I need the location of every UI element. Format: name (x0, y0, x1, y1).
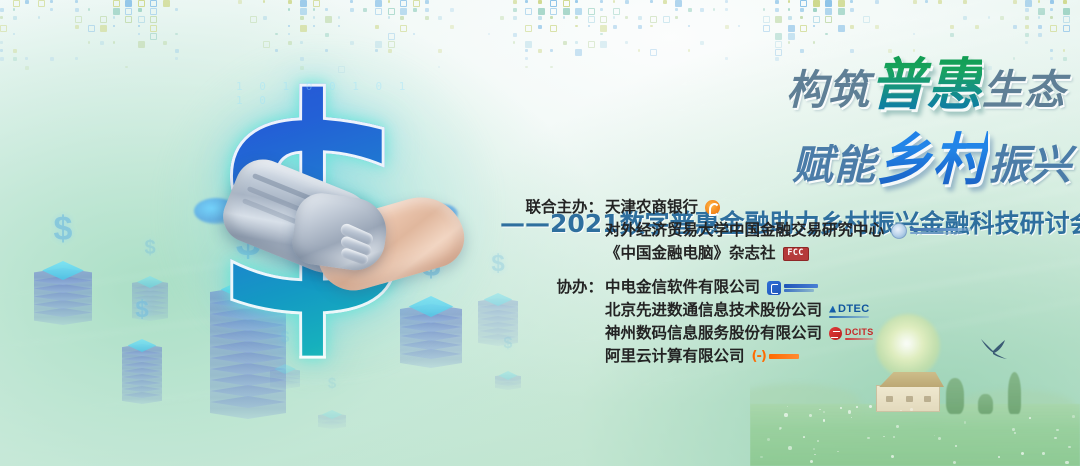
hill-shape (956, 390, 1074, 418)
field-speck (788, 446, 792, 450)
title-line-2: 赋能乡村振兴 (500, 115, 1080, 196)
field-speck (856, 406, 858, 408)
field-speck (998, 456, 1000, 458)
house-body (876, 385, 940, 412)
coin-disc (34, 268, 92, 285)
field-speck (953, 461, 956, 464)
coin-disc (318, 413, 346, 421)
field-speck (809, 414, 812, 417)
host-org-2: 对外经济贸易大学中国金融交易研究中心 (605, 219, 884, 242)
credit-row: 北京先进数通信息技术股份公司 DTEC (605, 299, 985, 322)
coin-disc (34, 284, 92, 301)
partner-org-2: 北京先进数通信息技术股份公司 (605, 299, 822, 322)
gientech-mark-icon (767, 281, 781, 295)
field-speck (891, 455, 894, 458)
field-speck (1042, 452, 1045, 455)
field-speck (814, 454, 816, 456)
coin-disc (34, 276, 92, 293)
field-speck (767, 438, 770, 441)
dollar-handshake-emblem: $ 1 0 1 0 0 1 0 1 1 0 (178, 58, 478, 358)
field-speck (910, 408, 913, 411)
credit-row: 阿里云计算有限公司 (-) (605, 345, 985, 368)
title-seg-shengtai: 生态 (982, 66, 1066, 114)
field-speck (780, 427, 782, 429)
field-speck (840, 407, 842, 409)
credit-row: 神州数码信息服务股份有限公司 DCITS (605, 322, 985, 345)
title-seg-puhui: 普惠 (870, 53, 982, 118)
field-speck (823, 419, 826, 422)
field-speck (787, 406, 788, 407)
title-seg-zhenxing: 振兴 (988, 141, 1072, 189)
credit-rows-coorganizer: 中电金信软件有限公司 北京先进数通信息技术股份公司 DTEC 神州数码信息服务股… (603, 276, 985, 368)
event-banner: $ $ $ $ (0, 0, 1080, 466)
tjrcb-logo (705, 200, 720, 215)
dtec-logo: DTEC (829, 304, 870, 318)
credit-group-coorganizer: 协办： 中电金信软件有限公司 北京先进数通信息技术股份公司 DTEC (525, 276, 985, 368)
field-speck (813, 448, 815, 450)
field-speck (817, 440, 819, 442)
title-seg-xiangcun: 乡村 (876, 128, 988, 193)
coin-disc (318, 421, 346, 429)
field-speck (896, 425, 899, 428)
coin-disc (210, 396, 286, 419)
house-window (886, 396, 893, 402)
coin-disc (34, 292, 92, 309)
dcits-text: DCITS (845, 328, 874, 337)
house-window (924, 396, 931, 402)
partner-org-4: 阿里云计算有限公司 (605, 345, 745, 368)
coin-disc (122, 386, 162, 398)
handshake-graphic (198, 170, 468, 288)
credit-rows-host: 天津农商银行 对外经济贸易大学中国金融交易研究中心 《中国金融电脑》杂志社 FC… (603, 196, 985, 265)
coin-disc (318, 417, 346, 425)
field-speck (848, 410, 851, 413)
dcits-logo: DCITS (829, 327, 874, 340)
credit-row: 《中国金融电脑》杂志社 FCC (605, 242, 985, 265)
partner-org-3: 神州数码信息服务股份有限公司 (605, 322, 822, 345)
coin-top-gem (499, 371, 518, 380)
coin-top-gem (42, 261, 84, 280)
aliyun-logo: (-) (752, 350, 799, 363)
uibe-wordmark (910, 228, 972, 234)
field-speck (1065, 461, 1068, 464)
field-speck (1012, 428, 1015, 431)
credit-label-host: 联合主办： (525, 196, 603, 219)
dollar-symbol-icon: $ (135, 298, 148, 322)
dollar-symbol-icon: $ (144, 238, 155, 258)
gientech-wordmark (784, 284, 818, 292)
field-speck (869, 405, 872, 408)
coin-disc (34, 300, 92, 317)
title-seg-funeng: 赋能 (792, 141, 876, 189)
dollar-symbol-icon: $ (54, 212, 73, 246)
field-speck (837, 451, 839, 453)
field-speck (938, 437, 941, 440)
coin-stack (34, 268, 92, 325)
hill-shape (750, 384, 860, 418)
farmhouse-icon (872, 376, 944, 412)
title-line-1: 构筑普惠生态 (500, 40, 1080, 121)
coin-stack (318, 413, 346, 429)
field-speck (893, 436, 895, 438)
field-speck (1056, 429, 1059, 432)
credit-row: 对外经济贸易大学中国金融交易研究中心 (605, 219, 985, 242)
clasped-hands (289, 190, 390, 274)
coin-disc (495, 382, 521, 390)
uibe-logo (891, 223, 972, 239)
field-speck (851, 417, 852, 418)
house-window (906, 396, 913, 402)
title-seg-gouzhu: 构筑 (786, 66, 870, 114)
host-org-3: 《中国金融电脑》杂志社 (605, 242, 776, 265)
field-speck (900, 410, 901, 411)
partner-org-1: 中电金信软件有限公司 (605, 276, 760, 299)
dcits-mark-icon (829, 327, 842, 340)
field-speck (883, 436, 885, 438)
dcits-wordmark: DCITS (845, 328, 874, 340)
host-org-1: 天津农商银行 (605, 196, 698, 219)
coin-tower: $ (34, 212, 92, 325)
tree-shape (978, 394, 993, 414)
tree-shape (946, 378, 964, 414)
field-speck (823, 411, 825, 413)
dollar-symbol-icon: $ (504, 336, 513, 352)
field-speck (803, 436, 805, 438)
field-speck (1068, 446, 1071, 449)
aliyun-bracket-icon: (-) (752, 350, 766, 363)
credit-group-host: 联合主办： 天津农商银行 对外经济贸易大学中国金融交易研究中心 《中国金融电脑》… (525, 196, 985, 265)
aliyun-wordmark (769, 354, 799, 359)
credit-label-coorganizer: 协办： (525, 276, 603, 299)
field-speck (1072, 415, 1075, 418)
coin-top-gem (128, 339, 157, 352)
credit-row: 天津农商银行 (605, 196, 985, 219)
field-speck (955, 445, 957, 447)
field-speck (1029, 417, 1031, 419)
field-speck (760, 456, 762, 458)
field-speck (819, 409, 821, 411)
field-speck (867, 437, 870, 440)
dtec-wordmark: DTEC (829, 304, 870, 315)
field-speck (964, 421, 966, 423)
credit-row: 中电金信软件有限公司 (605, 276, 985, 299)
tree-shape (1008, 372, 1021, 414)
field-speck (934, 435, 936, 437)
field-speck (1014, 432, 1015, 433)
coin-disc (210, 385, 286, 408)
gientech-logo (767, 281, 818, 295)
field-speck (810, 460, 813, 463)
uibe-seal-icon (891, 223, 907, 239)
house-roof (872, 372, 944, 387)
coin-top-gem (322, 410, 342, 419)
coin-disc (122, 392, 162, 404)
credits-block: 联合主办： 天津农商银行 对外经济贸易大学中国金融交易研究中心 《中国金融电脑》… (525, 196, 985, 368)
field-speck (1021, 452, 1024, 455)
field-speck (1054, 437, 1056, 439)
ground-field (750, 404, 1080, 466)
dtec-underline (829, 316, 869, 318)
field-speck (784, 413, 788, 417)
fcc-logo: FCC (783, 247, 809, 261)
coin-disc (122, 380, 162, 392)
field-speck (779, 427, 782, 430)
coin-disc (34, 308, 92, 325)
